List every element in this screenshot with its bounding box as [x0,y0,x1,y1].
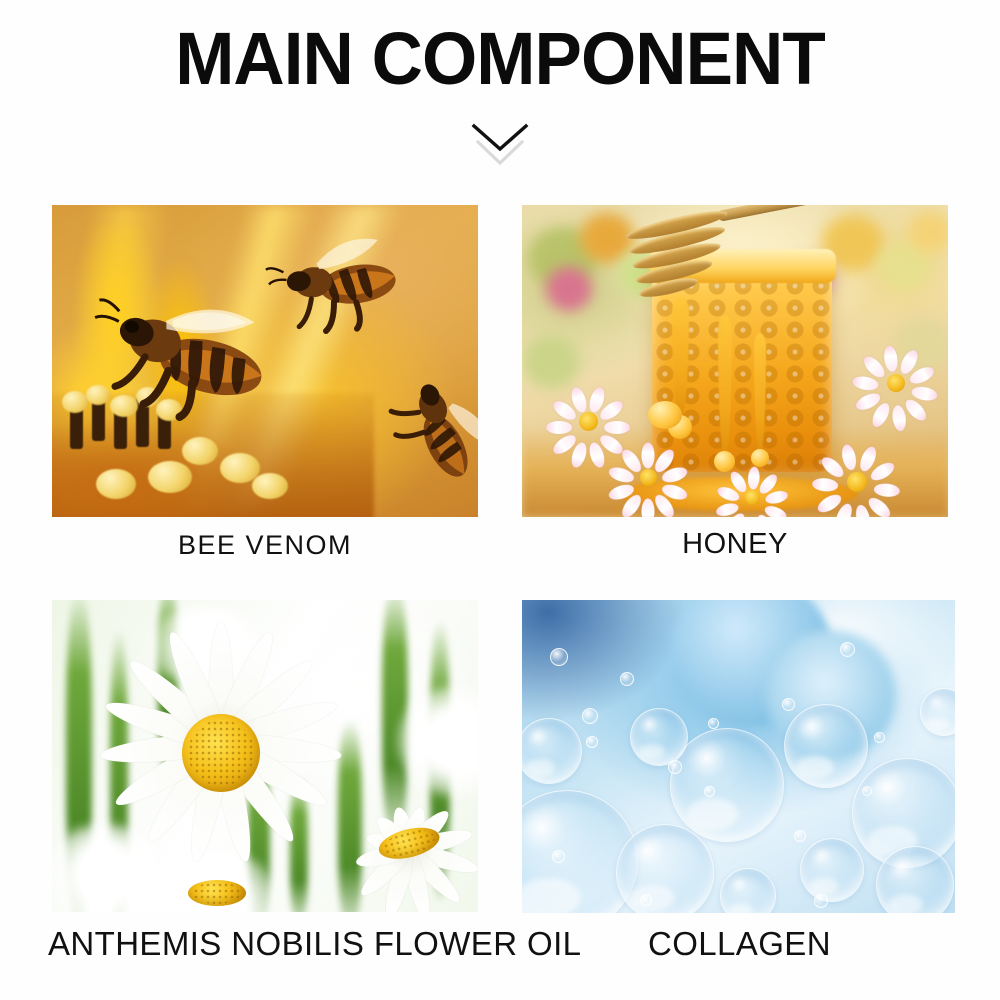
component-card-collagen[interactable] [522,600,955,913]
component-card-anthemis[interactable] [52,600,478,912]
bee-illustration [262,235,412,340]
caption-honey: HONEY [522,528,948,561]
component-card-bee-venom[interactable] [52,205,478,517]
bee-illustration [370,367,478,497]
component-card-honey[interactable] [522,205,948,517]
caption-anthemis: ANTHEMIS NOBILIS FLOWER OIL [48,925,581,963]
component-grid: BEE VENOM [0,0,1000,1000]
caption-bee-venom: BEE VENOM [52,530,478,561]
bee-venom-image [52,205,478,517]
anthemis-image [52,600,478,912]
flower-illustration [840,333,948,443]
honey-image [522,205,948,517]
daisy-illustration [130,828,300,912]
collagen-image [522,600,955,913]
caption-collagen: COLLAGEN [648,925,831,963]
